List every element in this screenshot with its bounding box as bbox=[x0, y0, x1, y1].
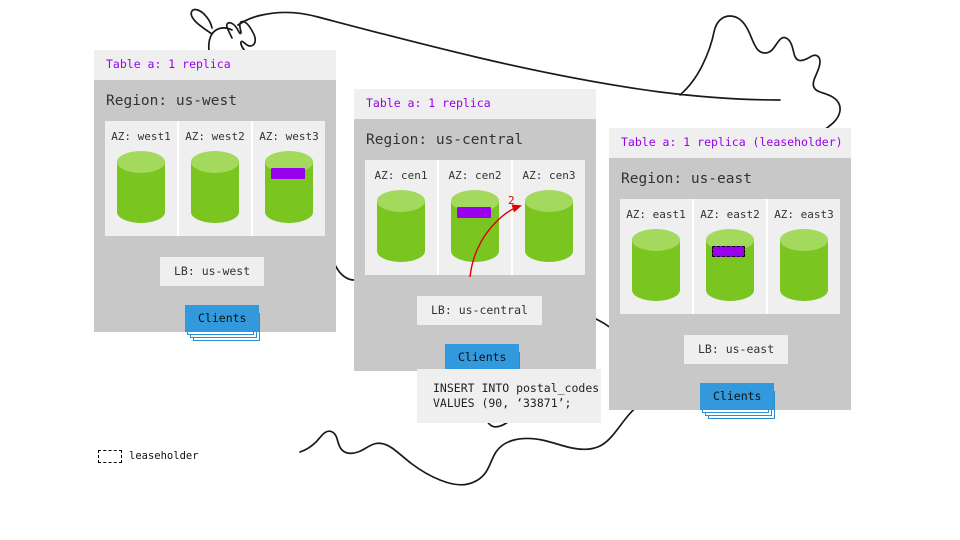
region-title-us-east: Region: us-east bbox=[609, 158, 851, 200]
lb-box-us-central[interactable]: LB: us-central bbox=[417, 296, 542, 326]
region-body-us-east: Region: us-east AZ: east1 AZ: east bbox=[609, 158, 851, 410]
region-panel-us-central: Table a: 1 replica Region: us-central AZ… bbox=[354, 89, 596, 371]
az-cell-cen3[interactable]: AZ: cen3 bbox=[513, 160, 585, 275]
lb-box-us-east[interactable]: LB: us-east bbox=[684, 335, 788, 365]
az-cell-cen2[interactable]: AZ: cen2 bbox=[439, 160, 513, 275]
clients-group-us-east[interactable]: Clients bbox=[700, 383, 774, 411]
clients-group-us-west[interactable]: Clients bbox=[185, 305, 259, 333]
lb-box-us-west[interactable]: LB: us-west bbox=[160, 257, 264, 287]
region-panel-us-west: Table a: 1 replica Region: us-west AZ: w… bbox=[94, 50, 336, 332]
clients-button-us-west[interactable]: Clients bbox=[185, 305, 259, 333]
region-panel-us-east: Table a: 1 replica (leaseholder) Region:… bbox=[609, 128, 851, 410]
diagram-canvas: Table a: 1 replica Region: us-west AZ: w… bbox=[0, 0, 960, 540]
cylinder-east3 bbox=[768, 228, 840, 302]
cylinder-west1 bbox=[105, 150, 177, 224]
az-strip-us-west: AZ: west1 AZ: west2 bbox=[105, 121, 325, 236]
az-cell-east2[interactable]: AZ: east2 bbox=[694, 199, 768, 314]
cylinder-cen2 bbox=[439, 189, 511, 263]
leaseholder-swatch-icon bbox=[98, 450, 122, 463]
replica-block-west3 bbox=[271, 168, 305, 179]
legend-leaseholder: leaseholder bbox=[98, 450, 199, 463]
az-strip-us-central: AZ: cen1 AZ: cen2 bbox=[365, 160, 585, 275]
region-body-us-central: Region: us-central AZ: cen1 AZ: ce bbox=[354, 119, 596, 371]
legend-label: leaseholder bbox=[129, 451, 199, 462]
sql-statement-box: INSERT INTO postal_codes VALUES (90, ‘33… bbox=[417, 369, 601, 423]
cylinder-west3 bbox=[253, 150, 325, 224]
region-header-us-central: Table a: 1 replica bbox=[354, 89, 596, 119]
cylinder-west2 bbox=[179, 150, 251, 224]
az-label-east2: AZ: east2 bbox=[694, 199, 766, 228]
region-body-us-west: Region: us-west AZ: west1 AZ: west bbox=[94, 80, 336, 332]
az-cell-west3[interactable]: AZ: west3 bbox=[253, 121, 325, 236]
region-header-us-east: Table a: 1 replica (leaseholder) bbox=[609, 128, 851, 158]
step-two-label: 2 bbox=[508, 195, 515, 206]
az-cell-east1[interactable]: AZ: east1 bbox=[620, 199, 694, 314]
az-label-east3: AZ: east3 bbox=[768, 199, 840, 228]
region-header-us-west: Table a: 1 replica bbox=[94, 50, 336, 80]
cylinder-cen1 bbox=[365, 189, 437, 263]
az-label-west2: AZ: west2 bbox=[179, 121, 251, 150]
region-title-us-central: Region: us-central bbox=[354, 119, 596, 161]
az-label-east1: AZ: east1 bbox=[620, 199, 692, 228]
az-cell-east3[interactable]: AZ: east3 bbox=[768, 199, 840, 314]
region-title-us-west: Region: us-west bbox=[94, 80, 336, 122]
cylinder-east1 bbox=[620, 228, 692, 302]
az-cell-cen1[interactable]: AZ: cen1 bbox=[365, 160, 439, 275]
az-label-west1: AZ: west1 bbox=[105, 121, 177, 150]
clients-button-us-east[interactable]: Clients bbox=[700, 383, 774, 411]
az-label-cen2: AZ: cen2 bbox=[439, 160, 511, 189]
replica-block-cen2 bbox=[457, 207, 491, 218]
clients-group-us-central[interactable]: Clients bbox=[445, 344, 519, 372]
clients-button-us-central[interactable]: Clients bbox=[445, 344, 519, 372]
az-label-west3: AZ: west3 bbox=[253, 121, 325, 150]
az-label-cen1: AZ: cen1 bbox=[365, 160, 437, 189]
az-label-cen3: AZ: cen3 bbox=[513, 160, 585, 189]
az-strip-us-east: AZ: east1 AZ: east2 bbox=[620, 199, 840, 314]
leaseholder-block-east2 bbox=[712, 246, 745, 257]
az-cell-west1[interactable]: AZ: west1 bbox=[105, 121, 179, 236]
cylinder-cen3 bbox=[513, 189, 585, 263]
az-cell-west2[interactable]: AZ: west2 bbox=[179, 121, 253, 236]
cylinder-east2 bbox=[694, 228, 766, 302]
